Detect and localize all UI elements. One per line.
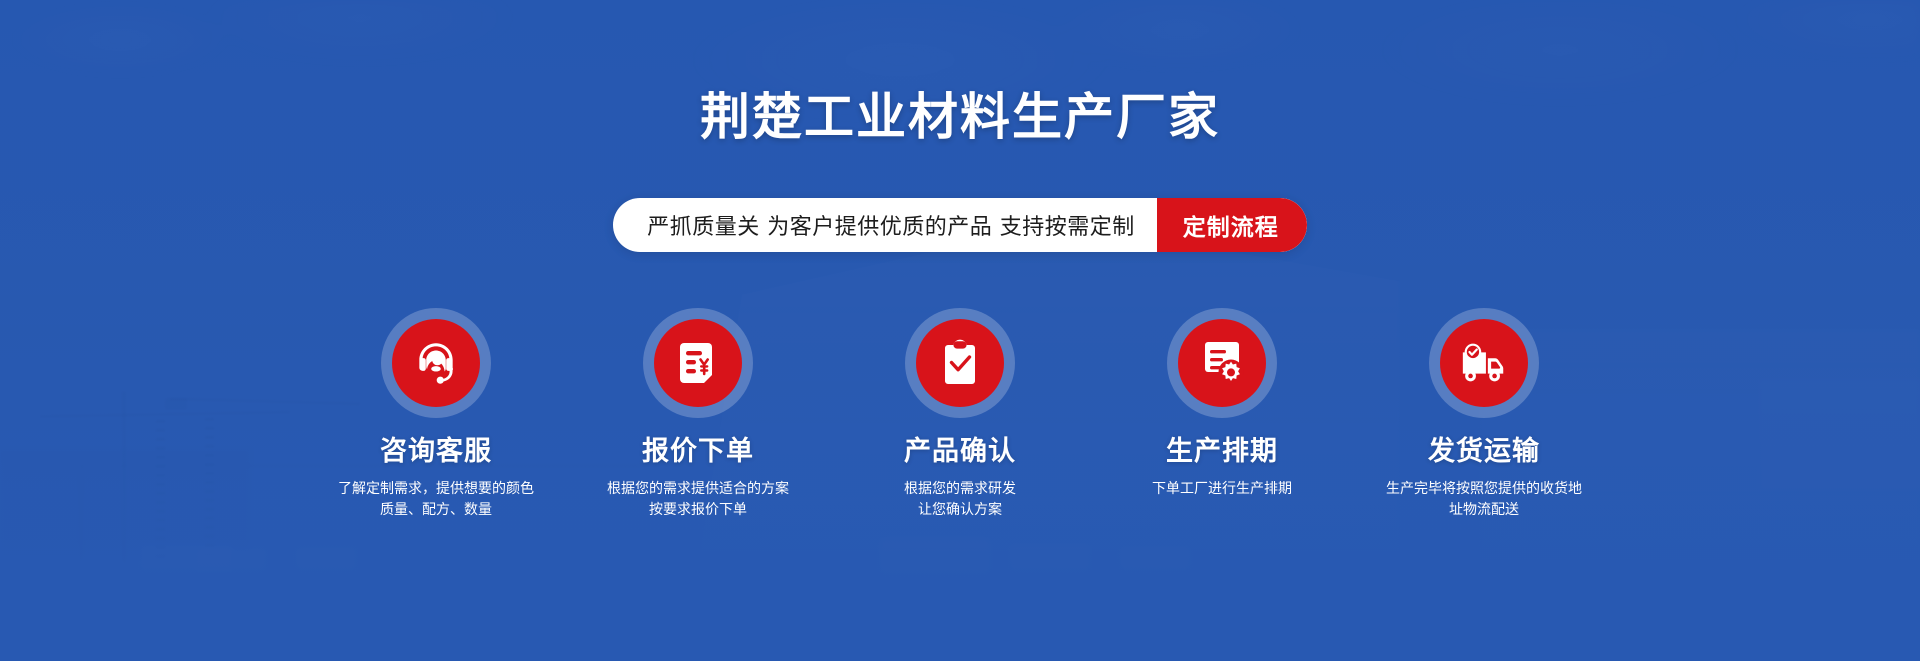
step-description-line: 了解定制需求，提供想要的颜色 <box>338 479 534 501</box>
slogan-pill-container: 严抓质量关 为客户提供优质的产品 支持按需定制 定制流程 <box>0 198 1920 252</box>
step-description: 下单工厂进行生产排期 <box>1152 479 1292 501</box>
step-description-line: 址物流配送 <box>1386 500 1582 522</box>
step-title: 报价下单 <box>642 437 754 467</box>
step-description: 生产完毕将按照您提供的收货地 址物流配送 <box>1386 479 1582 522</box>
step-icon-disc <box>1178 319 1266 407</box>
step-title: 生产排期 <box>1166 437 1278 467</box>
step-item-confirm[interactable]: 产品确认 根据您的需求研发 让您确认方案 <box>829 308 1091 522</box>
step-description-line: 让您确认方案 <box>904 500 1016 522</box>
step-item-schedule[interactable]: 生产排期 下单工厂进行生产排期 <box>1091 308 1353 500</box>
step-description-line: 下单工厂进行生产排期 <box>1152 479 1292 501</box>
promo-banner: 荆楚工业材料生产厂家 严抓质量关 为客户提供优质的产品 支持按需定制 定制流程 <box>0 0 1920 661</box>
slogan-text: 严抓质量关 为客户提供优质的产品 支持按需定制 <box>613 198 1157 252</box>
step-icon-ring <box>643 308 753 418</box>
headset-customer-service-icon <box>411 338 461 388</box>
document-gear-icon <box>1199 340 1245 386</box>
step-title: 咨询客服 <box>380 437 492 467</box>
custom-process-button[interactable]: 定制流程 <box>1157 198 1307 252</box>
step-title: 发货运输 <box>1428 437 1540 467</box>
step-title: 产品确认 <box>904 437 1016 467</box>
step-description-line: 根据您的需求提供适合的方案 <box>607 479 789 501</box>
step-icon-disc <box>392 319 480 407</box>
step-description-line: 按要求报价下单 <box>607 500 789 522</box>
invoice-yuan-icon <box>676 339 720 387</box>
clipboard-check-icon <box>939 339 981 387</box>
step-icon-ring <box>1167 308 1277 418</box>
step-icon-disc <box>916 319 1004 407</box>
step-description-line: 生产完毕将按照您提供的收货地 <box>1386 479 1582 501</box>
delivery-truck-check-icon <box>1459 341 1509 385</box>
step-icon-disc <box>1440 319 1528 407</box>
step-icon-ring <box>1429 308 1539 418</box>
step-item-consult[interactable]: 咨询客服 了解定制需求，提供想要的颜色 质量、配方、数量 <box>305 308 567 522</box>
slogan-pill: 严抓质量关 为客户提供优质的产品 支持按需定制 定制流程 <box>613 198 1307 252</box>
step-icon-ring <box>381 308 491 418</box>
step-description-line: 质量、配方、数量 <box>338 500 534 522</box>
step-description: 根据您的需求研发 让您确认方案 <box>904 479 1016 522</box>
step-description: 根据您的需求提供适合的方案 按要求报价下单 <box>607 479 789 522</box>
step-icon-ring <box>905 308 1015 418</box>
step-description-line: 根据您的需求研发 <box>904 479 1016 501</box>
banner-headline: 荆楚工业材料生产厂家 <box>0 92 1920 142</box>
process-steps: 咨询客服 了解定制需求，提供想要的颜色 质量、配方、数量 <box>0 308 1920 522</box>
banner-content: 荆楚工业材料生产厂家 严抓质量关 为客户提供优质的产品 支持按需定制 定制流程 <box>0 0 1920 661</box>
step-description: 了解定制需求，提供想要的颜色 质量、配方、数量 <box>338 479 534 522</box>
step-item-shipping[interactable]: 发货运输 生产完毕将按照您提供的收货地 址物流配送 <box>1353 308 1615 522</box>
step-item-quote[interactable]: 报价下单 根据您的需求提供适合的方案 按要求报价下单 <box>567 308 829 522</box>
step-icon-disc <box>654 319 742 407</box>
